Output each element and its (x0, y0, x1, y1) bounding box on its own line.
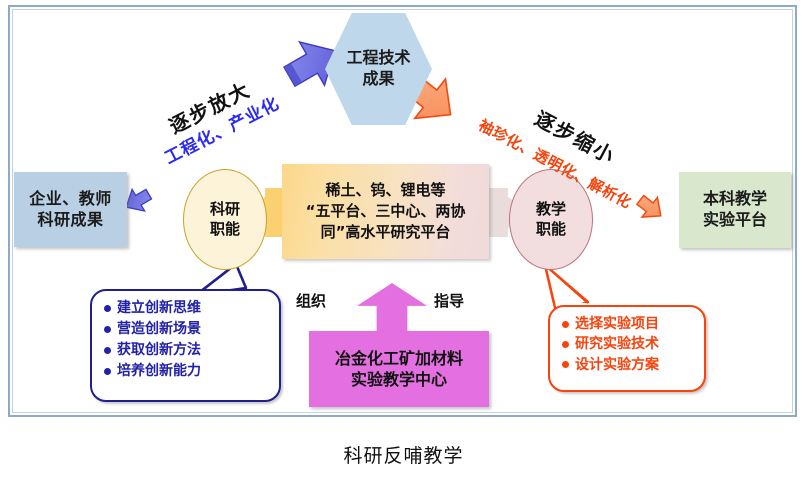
research-function-line-1: 科研 (210, 200, 240, 220)
research-function-line-2: 职能 (210, 220, 240, 240)
callout-left-list: 建立创新思维 营造创新场景 获取创新方法 培养创新能力 (104, 298, 269, 382)
right-box-line-1: 本科教学 (703, 189, 767, 210)
label-organize: 组织 (296, 290, 326, 311)
callout-teaching-outcomes[interactable]: 选择实验项目 研究实验技术 设计实验方案 (548, 305, 706, 392)
diagram-canvas: 企业、教师 科研成果 工程技术 成果 本科教学 实验平台 稀土、钨、锂电等 “五… (0, 0, 807, 487)
callout-right-list: 选择实验项目 研究实验技术 设计实验方案 (562, 314, 694, 375)
left-box-line-1: 企业、教师 (29, 189, 112, 209)
teaching-function-line-2: 职能 (536, 220, 566, 240)
list-item: 建立创新思维 (104, 298, 269, 319)
hexagon-line-1: 工程技术 (346, 48, 410, 69)
figure-caption: 科研反哺教学 (0, 441, 807, 468)
hexagon-label: 工程技术 成果 (346, 48, 410, 90)
list-item: 获取创新方法 (104, 340, 269, 361)
hexagon-line-2: 成果 (346, 69, 410, 90)
list-item: 培养创新能力 (104, 361, 269, 382)
left-box-line-2: 科研成果 (29, 210, 112, 230)
research-function-label: 科研 职能 (210, 200, 240, 239)
node-enterprise-teacher-results[interactable]: 企业、教师 科研成果 (14, 172, 127, 247)
list-item: 设计实验方案 (562, 355, 694, 375)
teaching-function-label: 教学 职能 (536, 200, 566, 239)
node-experimental-teaching-center[interactable]: 冶金化工矿加材料 实验教学中心 (309, 331, 489, 407)
right-box-line-2: 实验平台 (703, 210, 767, 231)
center-box-label: 冶金化工矿加材料 实验教学中心 (335, 348, 463, 390)
platform-label: 稀土、钨、锂电等 “五平台、三中心、两协 同”高水平研究平台 (306, 180, 466, 244)
right-box-label: 本科教学 实验平台 (703, 189, 767, 231)
callout-research-outcomes[interactable]: 建立创新思维 营造创新场景 获取创新方法 培养创新能力 (90, 289, 281, 402)
node-undergrad-teaching-platform[interactable]: 本科教学 实验平台 (679, 172, 791, 248)
node-enterprise-teacher-results-label: 企业、教师 科研成果 (29, 189, 112, 230)
list-item: 研究实验技术 (562, 334, 694, 354)
label-guide: 指导 (434, 290, 464, 311)
teaching-function-line-1: 教学 (536, 200, 566, 220)
node-research-platform[interactable]: 稀土、钨、锂电等 “五平台、三中心、两协 同”高水平研究平台 (282, 164, 489, 259)
list-item: 选择实验项目 (562, 314, 694, 334)
node-research-function[interactable]: 科研 职能 (183, 169, 267, 270)
list-item: 营造创新场景 (104, 319, 269, 340)
